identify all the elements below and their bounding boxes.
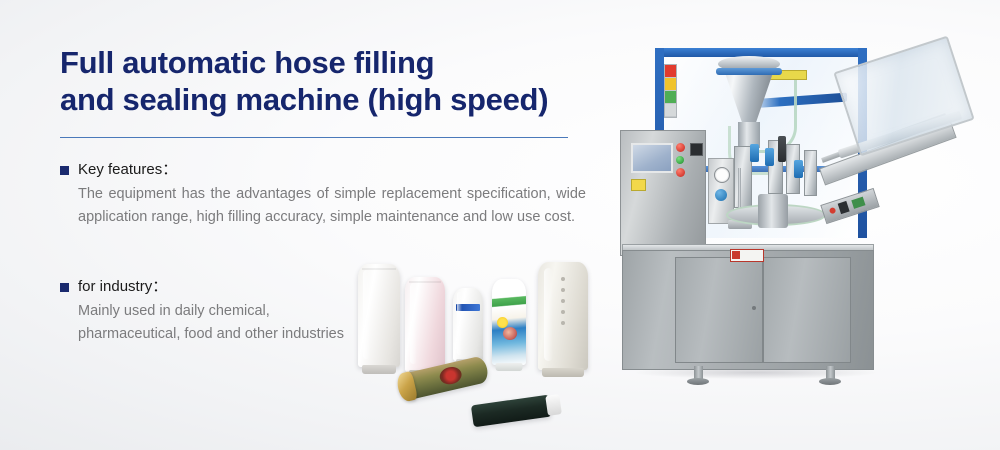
sensor-blue	[794, 160, 803, 178]
regulator-knob[interactable]	[715, 189, 727, 201]
hose-filling-sealing-machine-photo	[608, 18, 978, 418]
white-large-tube	[358, 264, 400, 367]
tube-cap	[496, 363, 523, 371]
small-white-blue-tube	[453, 288, 483, 361]
sensor-blue	[750, 144, 759, 162]
tower-light-red	[665, 65, 676, 78]
tube-body	[471, 395, 551, 428]
tube-dot-pattern	[561, 277, 565, 332]
section-key-features: Key features： The equipment has the adva…	[60, 160, 600, 229]
stop-button[interactable]	[676, 168, 685, 177]
section-text-key-features: The equipment has the advantages of simp…	[78, 183, 586, 229]
emergency-stop-button[interactable]	[676, 143, 685, 152]
product-banner: Full automatic hose filling and sealing …	[0, 0, 1000, 450]
leveling-foot-pad	[819, 378, 841, 385]
control-panel[interactable]	[620, 130, 706, 256]
white-cap	[545, 394, 562, 416]
section-label-for-industry: for industry：	[78, 277, 167, 296]
power-switch[interactable]	[690, 143, 703, 156]
loader-switch-black[interactable]	[838, 201, 850, 214]
start-button[interactable]	[676, 156, 684, 164]
tower-light-amber	[665, 78, 676, 91]
sun-graphic-icon	[497, 317, 508, 328]
sensor-blue	[765, 148, 774, 166]
tower-light	[664, 64, 677, 118]
tube-highlight	[544, 268, 553, 361]
section-text-for-industry: Mainly used in daily chemical, pharmaceu…	[78, 300, 368, 346]
bullet-square-icon	[60, 283, 69, 292]
cabinet-door-left[interactable]	[675, 257, 763, 363]
bullet-row-key-features: Key features：	[60, 160, 600, 179]
turret-hub	[758, 194, 788, 228]
cosmetic-tubes-photo	[348, 250, 598, 425]
tower-light-base	[665, 104, 676, 117]
beige-large-tube	[538, 262, 588, 370]
pressure-gauge	[714, 167, 730, 183]
loader-indicator-red	[829, 207, 837, 215]
warning-mark-icon	[732, 251, 740, 259]
hmi-touchscreen[interactable]	[631, 143, 673, 173]
tube-highlight	[363, 270, 370, 359]
safety-warning-label	[730, 249, 764, 262]
tube-highlight	[457, 292, 462, 355]
dark-green-tube	[471, 395, 551, 428]
section-label-key-features: Key features：	[78, 160, 177, 179]
tower-light-green	[665, 91, 676, 104]
tube-cap	[362, 365, 396, 374]
page-title: Full automatic hose filling and sealing …	[60, 44, 600, 118]
tube-cap	[542, 368, 584, 377]
ce-label-icon	[631, 179, 646, 191]
pink-tube	[405, 277, 445, 372]
machine-arm	[778, 136, 786, 162]
bullet-square-icon	[60, 166, 69, 175]
sunplay-colorful-tube	[492, 279, 526, 365]
character-graphic-icon	[503, 327, 517, 340]
leveling-foot-pad	[687, 378, 709, 385]
tube-highlight	[410, 283, 417, 365]
discharge-head-unit	[804, 150, 817, 196]
door-latch-icon[interactable]	[752, 306, 756, 310]
base-cabinet	[622, 250, 874, 370]
cabinet-door-right[interactable]	[763, 257, 851, 363]
hopper-clamp-band	[716, 68, 782, 75]
title-divider	[60, 137, 568, 138]
loader-indicator-green	[851, 197, 865, 209]
